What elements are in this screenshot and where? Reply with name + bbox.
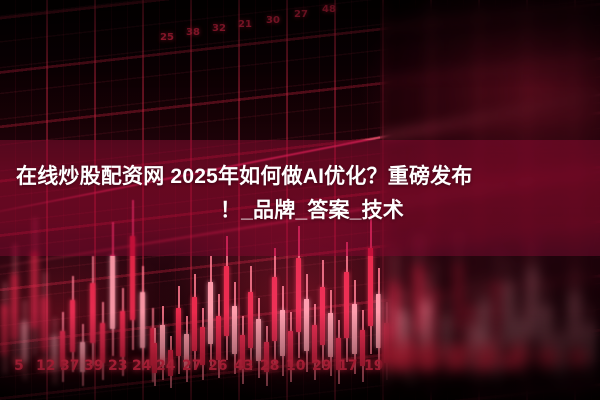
headline-line-1: 在线炒股配资网 2025年如何做AI优化？重磅发布 <box>0 160 600 194</box>
article-thumbnail: 25383221302748 5123739232424272643281029… <box>0 0 600 400</box>
page-title: 在线炒股配资网 2025年如何做AI优化？重磅发布 ！_品牌_答案_技术 <box>0 160 600 228</box>
headline-line-2: ！_品牌_答案_技术 <box>0 194 600 228</box>
